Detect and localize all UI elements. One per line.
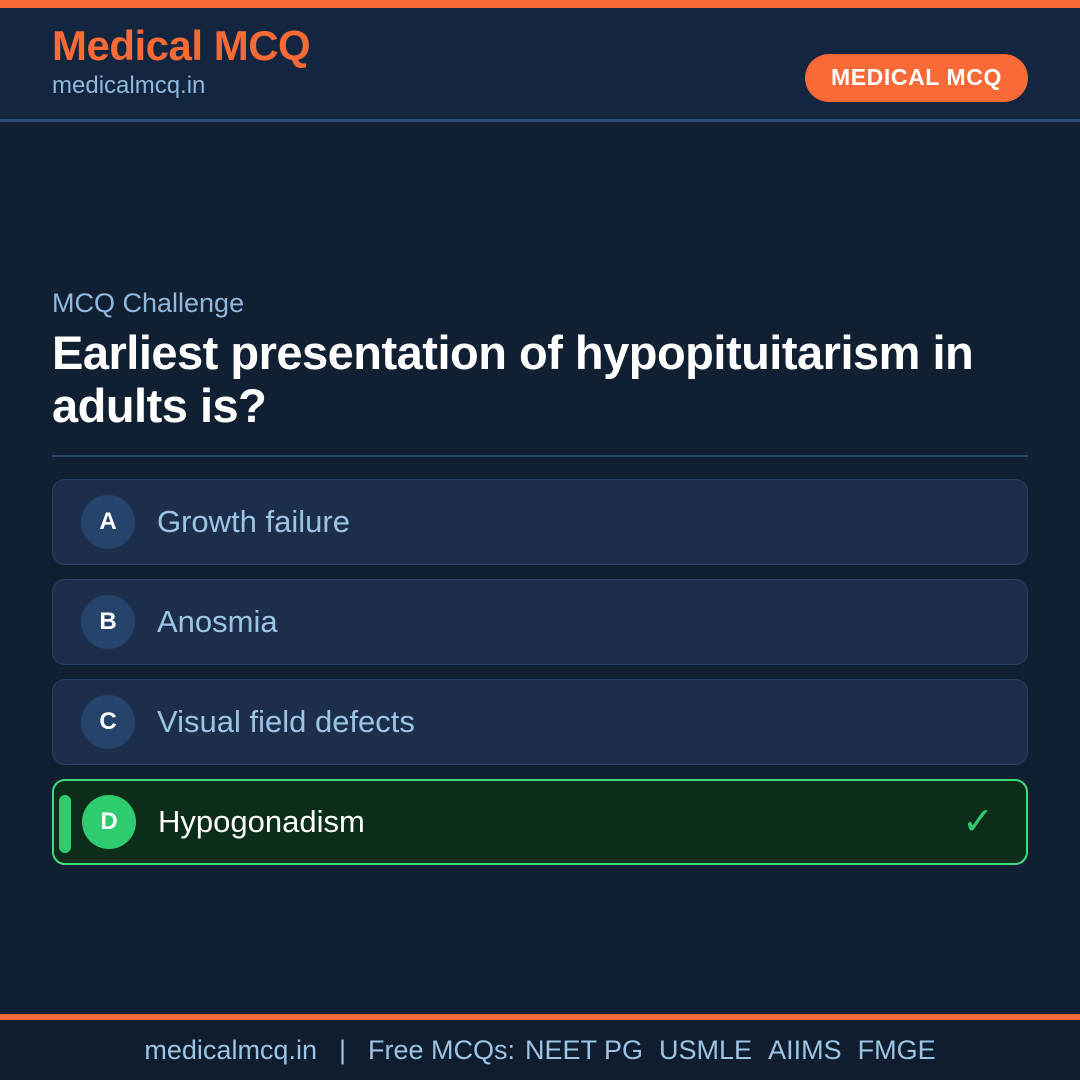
option-letter-badge-a: A xyxy=(81,495,135,549)
correct-accent-bar xyxy=(59,795,71,853)
header-badge: MEDICAL MCQ xyxy=(805,54,1028,102)
option-text-b: Anosmia xyxy=(157,603,278,640)
option-letter-badge-d: D xyxy=(82,795,136,849)
page-header: Medical MCQ medicalmcq.in MEDICAL MCQ xyxy=(0,8,1080,122)
answer-option-b[interactable]: B Anosmia xyxy=(52,579,1028,665)
footer-site-link[interactable]: medicalmcq.in xyxy=(144,1035,317,1066)
footer-exam-aiims[interactable]: AIIMS xyxy=(768,1035,842,1066)
answer-options-list: A Growth failure B Anosmia C Visual fiel… xyxy=(52,479,1028,865)
option-letter-badge-b: B xyxy=(81,595,135,649)
top-accent-bar xyxy=(0,0,1080,8)
main-content: MCQ Challenge Earliest presentation of h… xyxy=(52,287,1028,865)
question-divider xyxy=(52,455,1028,457)
page-footer: medicalmcq.in | Free MCQs: NEET PG USMLE… xyxy=(0,1014,1080,1080)
footer-exam-usmle[interactable]: USMLE xyxy=(659,1035,752,1066)
checkmark-icon: ✓ xyxy=(962,803,994,841)
answer-option-d-correct[interactable]: D Hypogonadism ✓ xyxy=(52,779,1028,865)
footer-separator: | xyxy=(339,1035,346,1066)
footer-label: Free MCQs: xyxy=(368,1035,515,1066)
brand-subtitle: medicalmcq.in xyxy=(52,72,310,101)
question-text: Earliest presentation of hypopituitarism… xyxy=(52,327,1028,432)
brand: Medical MCQ medicalmcq.in xyxy=(52,22,310,101)
answer-option-a[interactable]: A Growth failure xyxy=(52,479,1028,565)
footer-content: medicalmcq.in | Free MCQs: NEET PG USMLE… xyxy=(144,1035,935,1066)
brand-title: Medical MCQ xyxy=(52,22,310,70)
option-text-c: Visual field defects xyxy=(157,703,415,740)
option-letter-badge-c: C xyxy=(81,695,135,749)
option-text-d: Hypogonadism xyxy=(158,803,365,840)
option-text-a: Growth failure xyxy=(157,503,350,540)
footer-exam-neet-pg[interactable]: NEET PG xyxy=(525,1035,643,1066)
eyebrow-label: MCQ Challenge xyxy=(52,287,1028,319)
footer-exam-fmge[interactable]: FMGE xyxy=(858,1035,936,1066)
answer-option-c[interactable]: C Visual field defects xyxy=(52,679,1028,765)
